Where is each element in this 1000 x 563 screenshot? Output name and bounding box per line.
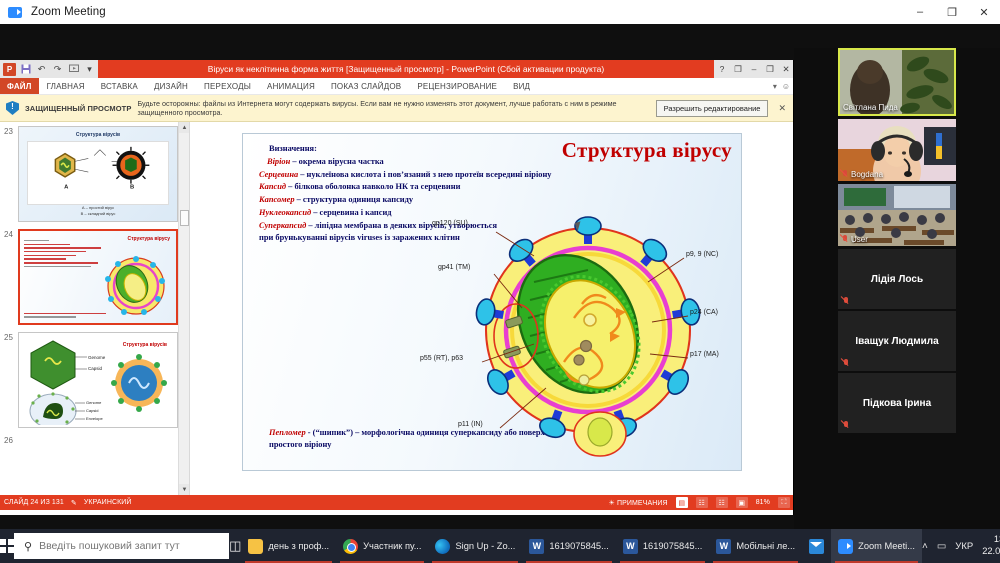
participant-gallery: Світлана Пида	[794, 48, 1000, 553]
mic-muted-icon	[842, 359, 849, 368]
svg-text:A: A	[64, 185, 69, 191]
protected-view-message: Будьте осторожны: файлы из Интернета мог…	[137, 99, 649, 118]
folder-icon	[248, 539, 263, 554]
zoom-window-title: Zoom Meeting	[31, 6, 106, 18]
slide-thumbnail-pane[interactable]: 23 Структура вірусів	[0, 122, 190, 495]
participant-tile-lidiya[interactable]: Лідія Лось	[838, 249, 956, 309]
thumbnail-caption: А – простий вірус В – складний вірус	[19, 205, 177, 217]
thumbnail-item-24[interactable]: 24 Структура вірусу	[0, 225, 189, 328]
undo-icon[interactable]: ↶	[35, 63, 48, 76]
status-right-group: ☀ ПРИМЕЧАНИЯ ▤ ☷ ☷ ▣ 81% ⛶	[609, 497, 790, 508]
label-p24-ca: p24 (CA)	[690, 309, 718, 316]
thumbnail-title: Структура вірусів	[123, 337, 173, 348]
powerpoint-close-icon[interactable]: ✕	[778, 64, 794, 75]
zoom-logo-icon	[8, 7, 22, 18]
zoom-titlebar: Zoom Meeting – ❐ ✕	[0, 0, 1000, 24]
mic-muted-icon	[841, 170, 848, 179]
ribbon-tabs[interactable]: ФАЙЛ ГЛАВНАЯ ВСТАВКА ДИЗАЙН ПЕРЕХОДЫ АНИ…	[0, 78, 794, 95]
taskbar-item-word-1[interactable]: W 1619075845...	[522, 529, 615, 563]
slide-sorter-icon[interactable]: ☷	[696, 497, 708, 508]
participant-tile-ivashchuk[interactable]: Іващук Людмила	[838, 311, 956, 371]
word-icon: W	[716, 539, 731, 554]
word-icon: W	[529, 539, 544, 554]
notes-button[interactable]: ☀ ПРИМЕЧАНИЯ	[609, 499, 668, 507]
thumbnail-preview[interactable]: Структура вірусів Genome Capsid	[18, 332, 178, 428]
clock-date: 22.04.2021	[982, 546, 1000, 558]
customize-qat-icon[interactable]: ▾	[83, 63, 96, 76]
svg-text:Genome: Genome	[86, 400, 102, 405]
protected-view-bar: ЗАЩИЩЕННЫЙ ПРОСМОТР Будьте осторожны: фа…	[0, 95, 794, 122]
tab-insert[interactable]: ВСТАВКА	[93, 78, 146, 94]
normal-view-icon[interactable]: ▤	[676, 497, 688, 508]
powerpoint-minimize-icon[interactable]: –	[746, 64, 762, 74]
thumbnail-item-23[interactable]: 23 Структура вірусів	[0, 122, 189, 225]
help-icon[interactable]: ?	[714, 64, 730, 74]
start-slideshow-icon[interactable]	[67, 63, 80, 76]
definition-row-sertsevyna: Серцевина – нуклеїнова кислота і пов’яза…	[259, 169, 589, 182]
tab-review[interactable]: РЕЦЕНЗИРОВАНИЕ	[409, 78, 505, 94]
participant-tile-bogdana[interactable]: Bogdana	[838, 119, 956, 181]
tab-transitions[interactable]: ПЕРЕХОДЫ	[196, 78, 259, 94]
mail-icon	[809, 539, 824, 554]
zoom-close-button[interactable]: ✕	[968, 0, 1000, 24]
participant-name: Світлана Пида	[843, 103, 898, 112]
tab-file[interactable]: ФАЙЛ	[0, 78, 39, 94]
powerpoint-document-title: Віруси як неклітинна форма життя [Защище…	[98, 60, 714, 78]
participant-name: User	[841, 235, 868, 244]
svg-text:B: B	[130, 185, 134, 191]
quick-access-toolbar[interactable]: P ↶ ↷ ▾	[0, 60, 96, 78]
status-left-group: СЛАЙД 24 ИЗ 131 ✎ УКРАИНСКИЙ	[4, 499, 132, 507]
powerpoint-titlebar: P ↶ ↷ ▾ Віруси як неклітинна форма життя…	[0, 60, 794, 78]
thumbnail-number: 25	[4, 332, 18, 428]
participant-name: Іващук Людмила	[855, 336, 938, 347]
protected-view-label: ЗАЩИЩЕННЫЙ ПРОСМОТР	[25, 104, 131, 113]
tab-home[interactable]: ГЛАВНАЯ	[39, 78, 93, 94]
label-p17-ma: p17 (MA)	[690, 351, 719, 358]
word-icon: W	[623, 539, 638, 554]
thumbnail-number: 26	[4, 435, 18, 445]
ribbon-right-group: ▾ ☺	[773, 78, 794, 94]
label-gp41-tm: gp41 (TM)	[438, 264, 470, 271]
taskbar-item-mail[interactable]	[802, 529, 831, 563]
slideshow-icon[interactable]: ▣	[736, 497, 748, 508]
taskbar-item-word-2[interactable]: W 1619075845...	[616, 529, 709, 563]
windows-logo-icon	[0, 539, 14, 553]
svg-text:Capsid: Capsid	[86, 408, 98, 413]
language-indicator[interactable]: УКРАИНСКИЙ	[84, 499, 132, 506]
zoom-minimize-button[interactable]: –	[904, 0, 936, 24]
show-hidden-icons-icon[interactable]: ˄	[922, 541, 928, 552]
shared-screen-powerpoint[interactable]: P ↶ ↷ ▾ Віруси як неклітинна форма життя…	[0, 60, 794, 515]
participant-name: Лідія Лось	[871, 274, 923, 285]
mic-muted-icon	[841, 235, 848, 244]
account-avatar-icon[interactable]: ☺	[782, 82, 790, 91]
slide-canvas-area[interactable]: Структура вірусу Визначення: Віріон – ок…	[190, 122, 794, 495]
definition-row-kapsyd: Капсид – білкова оболонка навколо НК та …	[259, 181, 589, 194]
taskbar-item-edge[interactable]: Sign Up - Zo...	[428, 529, 522, 563]
zoom-icon	[838, 539, 853, 554]
taskbar-item-folder[interactable]: день з проф...	[241, 529, 336, 563]
mic-muted-icon	[842, 421, 849, 430]
powerpoint-app-icon: P	[3, 63, 16, 76]
search-icon: ⚲	[24, 540, 32, 553]
powerpoint-status-bar: СЛАЙД 24 ИЗ 131 ✎ УКРАИНСКИЙ ☀ ПРИМЕЧАНИ…	[0, 495, 794, 510]
save-icon[interactable]	[19, 63, 32, 76]
definitions-header: Визначення:	[259, 143, 589, 156]
participant-name: Підкова Ірина	[863, 398, 931, 409]
participant-name: Bogdana	[841, 170, 883, 179]
thumbnail-item-26[interactable]: 26	[0, 431, 189, 448]
participant-tile-user[interactable]: User	[838, 184, 956, 246]
chevron-down-icon[interactable]: ▾	[773, 82, 777, 91]
taskbar-search[interactable]: ⚲	[14, 533, 229, 559]
thumbnail-number: 24	[4, 229, 18, 325]
fit-to-window-icon[interactable]: ⛶	[778, 497, 790, 508]
svg-text:Capsid: Capsid	[88, 366, 103, 371]
network-icon[interactable]: ▭	[937, 541, 946, 552]
virus-diagram: gp120 (SU) gp41 (TM) p55 (RT), p63 p11 (…	[438, 212, 738, 462]
thumbnail-title: Структура вірусів	[19, 127, 177, 138]
definition-row-virion: Віріон – окрема вірусна частка	[259, 156, 589, 169]
svg-text:Genome: Genome	[88, 355, 106, 360]
label-p9-nc: p9, 9 (NC)	[686, 251, 718, 258]
zoom-window-controls: – ❐ ✕	[904, 0, 1000, 24]
tab-design[interactable]: ДИЗАЙН	[146, 78, 196, 94]
powerpoint-window-controls: ? ❐ – ❐ ✕	[714, 60, 794, 78]
powerpoint-restore-icon[interactable]: ❐	[762, 64, 778, 75]
redo-icon[interactable]: ↷	[51, 63, 64, 76]
zoom-maximize-button[interactable]: ❐	[936, 0, 968, 24]
taskbar-item-zoom[interactable]: Zoom Meeti...	[831, 529, 922, 563]
tab-view[interactable]: ВИД	[505, 78, 538, 94]
thumbnail-number: 23	[4, 126, 18, 222]
task-view-icon[interactable]: ◫	[229, 529, 241, 563]
enable-editing-button[interactable]: Разрешить редактирование	[656, 100, 769, 117]
label-gp120-su: gp120 (SU)	[432, 220, 468, 227]
definition-row-kapsomer: Капсомер – структурна одиниця капсиду	[259, 194, 589, 207]
edge-icon	[435, 539, 450, 554]
tab-slideshow[interactable]: ПОКАЗ СЛАЙДОВ	[323, 78, 409, 94]
slide-counter: СЛАЙД 24 ИЗ 131	[4, 499, 64, 506]
clock-time: 13:25	[982, 534, 1000, 546]
reading-view-icon[interactable]: ☷	[716, 497, 728, 508]
thumbnail-figure: A B	[27, 141, 169, 205]
scroll-up-icon[interactable]: ▲	[179, 122, 190, 133]
protected-view-close-icon[interactable]: ✕	[774, 103, 790, 114]
taskbar-item-word-3[interactable]: W Мобільні ле...	[709, 529, 802, 563]
thumbnail-item-25[interactable]: 25 Структура вірусів Genome Capsid	[0, 328, 189, 431]
chrome-icon	[343, 539, 358, 554]
taskbar-item-chrome[interactable]: Участник пу...	[336, 529, 428, 563]
participant-tile-pidkova[interactable]: Підкова Ірина	[838, 373, 956, 433]
scroll-down-icon[interactable]: ▼	[179, 484, 190, 495]
powerpoint-edit-area: 23 Структура вірусів	[0, 122, 794, 495]
windows-taskbar: ⚲ ◫ день з проф... Участник пу... Sign U…	[0, 529, 1000, 563]
shield-icon	[6, 101, 19, 115]
search-input[interactable]	[39, 540, 229, 552]
participant-tile-svitlana[interactable]: Світлана Пида	[838, 48, 956, 116]
start-button[interactable]	[0, 529, 14, 563]
zoom-level[interactable]: 81%	[756, 499, 770, 506]
thumbnail-preview[interactable]: Структура вірусів	[18, 126, 178, 222]
peplomer-term: Пепломер	[269, 428, 306, 437]
thumbnail-preview-selected[interactable]: Структура вірусу	[18, 229, 178, 325]
ribbon-display-options-icon[interactable]: ❐	[730, 64, 746, 75]
zoom-meeting-body: P ↶ ↷ ▾ Віруси як неклітинна форма життя…	[0, 24, 1000, 529]
label-p11-in: p11 (IN)	[458, 421, 483, 428]
thumbnail-scrollbar[interactable]: ▲ ▼	[178, 122, 189, 495]
svg-text:Envelope: Envelope	[86, 416, 103, 421]
system-tray: ˄ ▭ УКР 13:25 22.04.2021 💬 3	[922, 529, 1000, 563]
current-slide[interactable]: Структура вірусу Визначення: Віріон – ок…	[242, 133, 742, 471]
mic-muted-icon	[842, 297, 849, 306]
label-p55-rt-p63: p55 (RT), p63	[420, 355, 463, 362]
language-indicator[interactable]: УКР	[955, 541, 973, 552]
clock[interactable]: 13:25 22.04.2021	[982, 534, 1000, 557]
tab-animations[interactable]: АНИМАЦИЯ	[259, 78, 323, 94]
spellcheck-icon[interactable]: ✎	[71, 499, 77, 507]
scrollbar-thumb[interactable]	[180, 210, 189, 226]
